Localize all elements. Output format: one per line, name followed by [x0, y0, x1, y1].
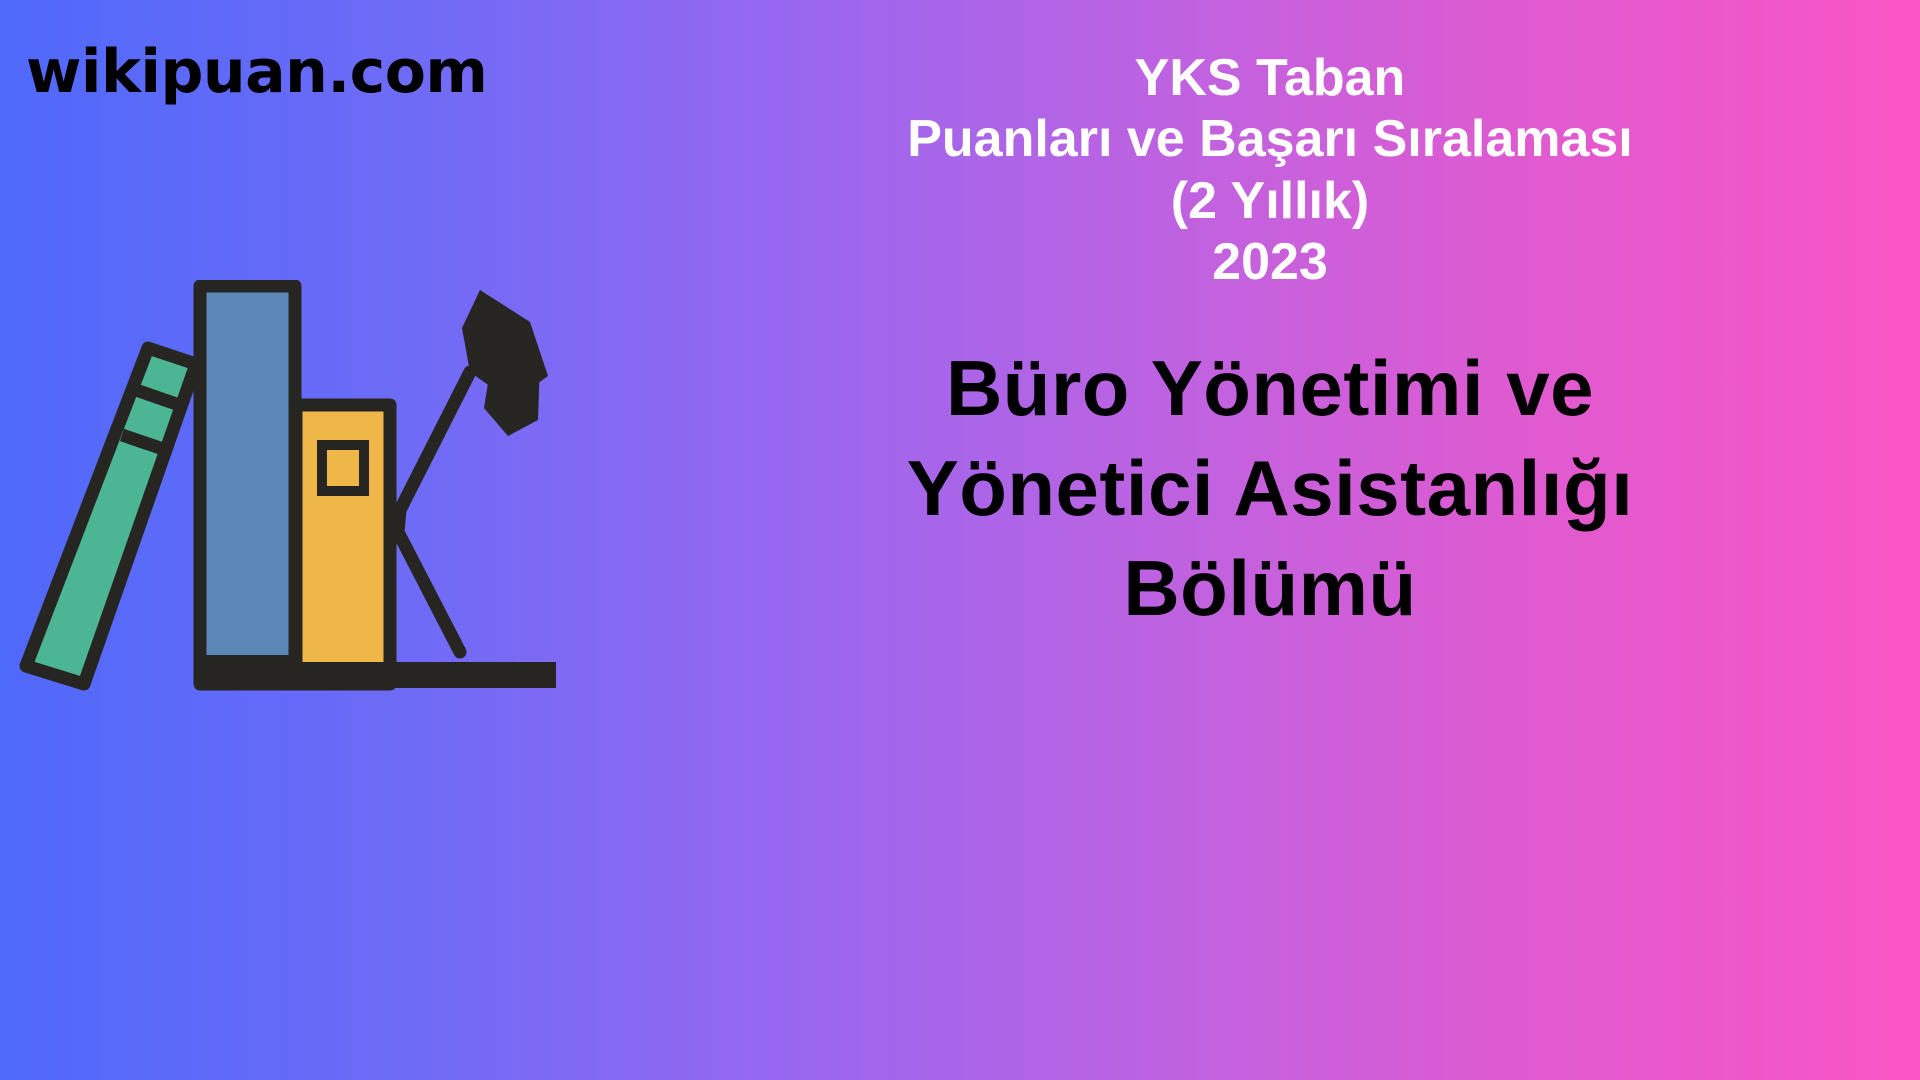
banner-canvas: wikipuan.com — [0, 0, 1920, 1080]
title-line-3: Bölümü — [665, 539, 1875, 639]
subtitle-line-2: Puanları ve Başarı Sıralaması — [680, 109, 1860, 170]
subtitle-line-3: (2 Yıllık) — [680, 171, 1860, 232]
title-line-2: Yönetici Asistanlığı — [665, 439, 1875, 539]
subtitle-line-1: YKS Taban — [680, 48, 1860, 109]
title-line-1: Büro Yönetimi ve — [665, 339, 1875, 439]
text-column: YKS Taban Puanları ve Başarı Sıralaması … — [640, 0, 1900, 1080]
page-title: Büro Yönetimi ve Yönetici Asistanlığı Bö… — [665, 339, 1875, 638]
books-and-desk-lamp-illustration — [0, 280, 620, 760]
subtitle-line-4-year: 2023 — [680, 232, 1860, 293]
shelf-base — [196, 662, 556, 688]
exam-subtitle: YKS Taban Puanları ve Başarı Sıralaması … — [680, 48, 1860, 293]
blue-book-icon — [200, 286, 295, 684]
desk-lamp-icon — [398, 290, 548, 652]
site-watermark: wikipuan.com — [26, 42, 487, 102]
yellow-book-icon — [296, 405, 390, 684]
green-book-icon — [26, 348, 196, 684]
